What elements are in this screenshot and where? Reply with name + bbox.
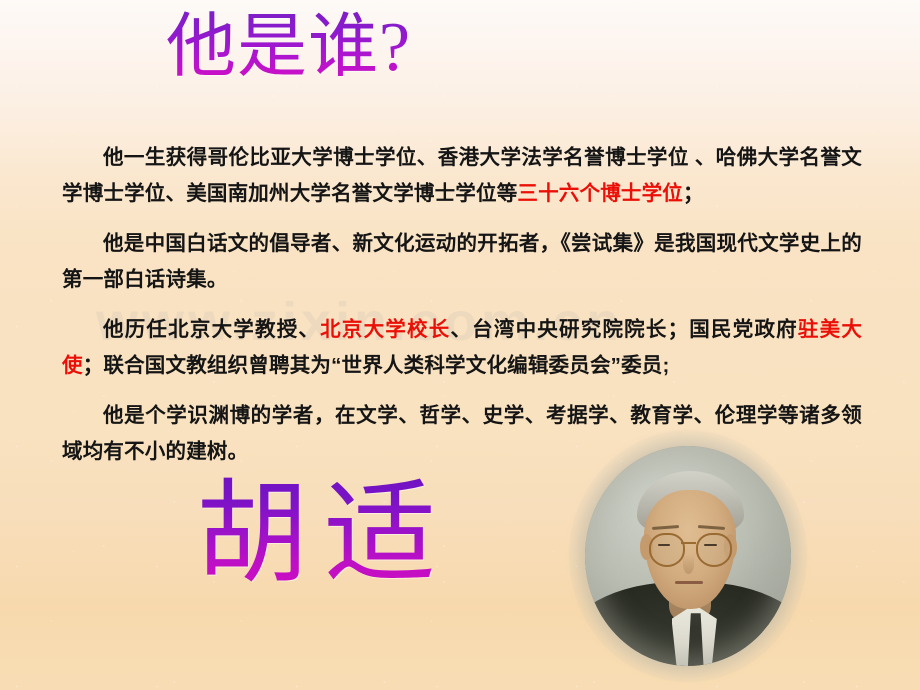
text-run-p3-2: 、台湾中央研究院院长；国民党政府 [450,318,797,341]
highlight-run-p3-1: 北京大学校长 [320,318,450,341]
paragraph-3: 他历任北京大学教授、北京大学校长、台湾中央研究院院长；国民党政府驻美大使；联合国… [62,312,862,384]
slide-canvas: www.zixin.com.cn 他是谁? 他一生获得哥伦比亚大学博士学位、香港… [0,0,920,690]
text-run-p3-0: 他历任北京大学教授、 [103,318,320,341]
text-run-p2-0: 他是中国白话文的倡导者、新文化运动的开拓者，《尝试集》是我国现代文学史上的第一部… [62,232,862,291]
text-run-p1-0: 他一生获得哥伦比亚大学博士学位、香港大学法学名誉博士学位 、哈佛大学名誉文学博士… [62,146,862,205]
body-copy: 他一生获得哥伦比亚大学博士学位、香港大学法学名誉博士学位 、哈佛大学名誉文学博士… [62,140,862,470]
portrait-image [585,446,791,666]
paragraph-2: 他是中国白话文的倡导者、新文化运动的开拓者，《尝试集》是我国现代文学史上的第一部… [62,226,862,298]
portrait-vignette [585,446,791,666]
page-title: 他是谁? [166,6,411,90]
text-run-p1-2: ； [683,182,704,205]
person-name: 胡适 [196,470,452,598]
portrait-photo [585,446,791,666]
highlight-run-p1-1: 三十六个博士学位 [517,182,683,205]
paragraph-1: 他一生获得哥伦比亚大学博士学位、香港大学法学名誉博士学位 、哈佛大学名誉文学博士… [62,140,862,212]
text-run-p3-4: ；联合国文教组织曾聘其为“世界人类科学文化编辑委员会”委员; [83,354,670,377]
